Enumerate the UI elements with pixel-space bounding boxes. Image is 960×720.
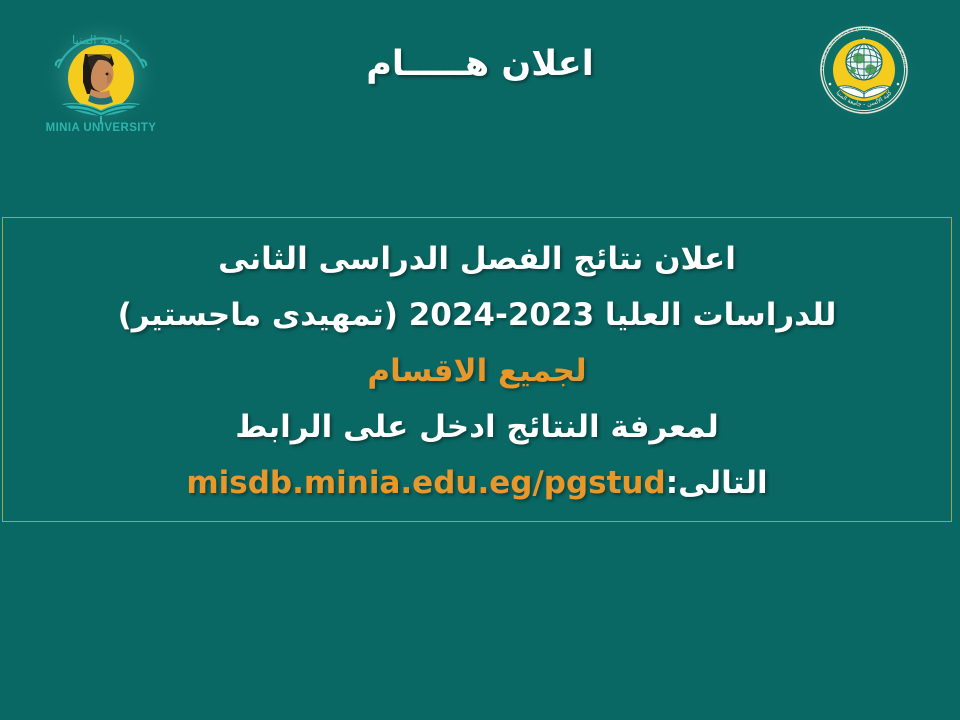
announcement-line-1: اعلان نتائج الفصل الدراسى الثانى bbox=[3, 231, 951, 287]
svg-text:MINIA UNIVERSITY: MINIA UNIVERSITY bbox=[46, 122, 157, 134]
announcement-poster: جامعة المنيا bbox=[0, 0, 960, 720]
link-label: التالى bbox=[678, 465, 768, 501]
announcement-link-line: التالى:misdb.minia.edu.eg/pgstud bbox=[3, 455, 951, 511]
announcement-line-2: للدراسات العليا 2023-2024 (تمهيدى ماجستي… bbox=[3, 287, 951, 343]
announcement-frame: اعلان نتائج الفصل الدراسى الثانى للدراسا… bbox=[2, 217, 952, 522]
poster-header: جامعة المنيا bbox=[0, 0, 960, 140]
announcement-body: اعلان نتائج الفصل الدراسى الثانى للدراسا… bbox=[3, 231, 951, 511]
results-url-link[interactable]: misdb.minia.edu.eg/pgstud bbox=[186, 455, 665, 511]
announcement-line-4: لمعرفة النتائج ادخل على الرابط bbox=[3, 399, 951, 455]
link-separator: : bbox=[666, 465, 678, 501]
announcement-line-3: لجميع الاقسام bbox=[3, 343, 951, 399]
faculty-of-languages-logo: FACULTY OF LANGUAGES (AL-ALSUN) - MINIA … bbox=[808, 14, 920, 126]
